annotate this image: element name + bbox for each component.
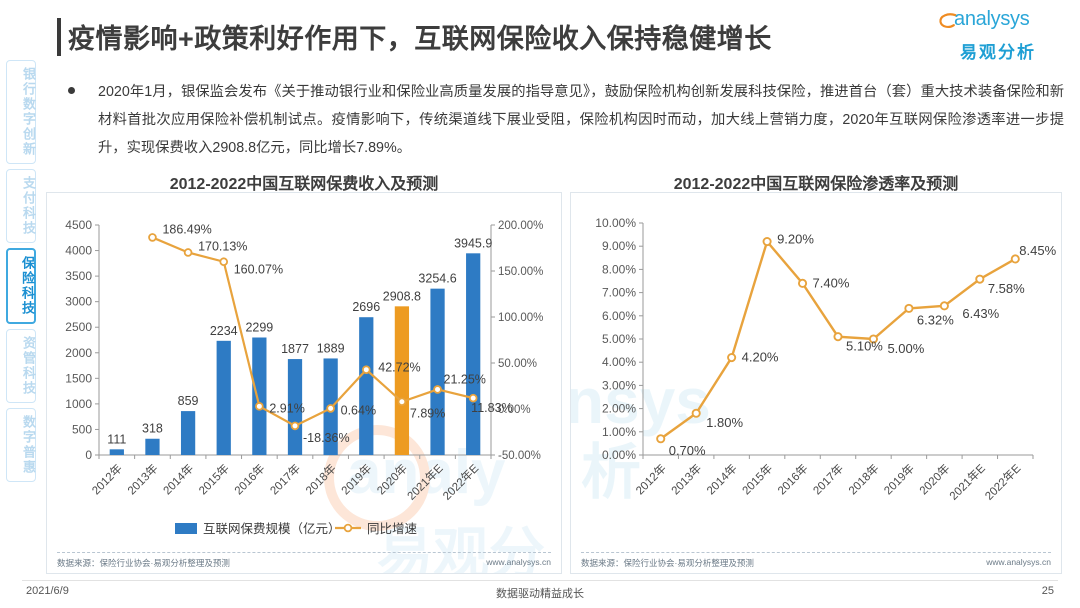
y-tick-label: 3000: [65, 295, 92, 309]
line-value-label: 6.43%: [962, 306, 999, 321]
line-value-label: 5.10%: [846, 339, 883, 354]
line-marker: [693, 410, 700, 417]
x-tick-label: 2019年: [881, 461, 917, 497]
y-tick-label: 1.00%: [602, 425, 636, 439]
line-value-label: 9.20%: [777, 232, 814, 247]
line-value-label: 11.83%: [471, 401, 512, 415]
bar-value-label: 859: [178, 394, 199, 408]
bar: [395, 306, 409, 455]
bar: [110, 449, 124, 455]
bullet-text: 2020年1月，银保监会发布《关于推动银行业和保险业高质量发展的指导意见》，鼓励…: [98, 78, 1064, 162]
y2-tick-label: 100.00%: [498, 312, 543, 324]
bar: [359, 317, 373, 455]
x-tick-label: 2016年: [775, 461, 811, 497]
x-tick-label: 2022年E: [982, 461, 1024, 503]
left-chart-panel: analy易观分05001000150020002500300035004000…: [46, 192, 562, 574]
right-chart-source: 数据来源：保险行业协会·易观分析整理及预测: [581, 557, 754, 569]
y-tick-label: 7.00%: [602, 286, 636, 300]
x-tick-label: 2013年: [668, 461, 704, 497]
line-marker: [363, 366, 370, 373]
line-marker: [292, 422, 299, 429]
bar-value-label: 2299: [245, 320, 273, 334]
bar: [430, 289, 444, 455]
x-tick-label: 2017年: [810, 461, 846, 497]
bar-value-label: 2234: [210, 324, 238, 338]
y-tick-label: 3.00%: [602, 378, 636, 392]
bullet-paragraph: 2020年1月，银保监会发布《关于推动银行业和保险业高质量发展的指导意见》，鼓励…: [68, 78, 1064, 162]
line-marker: [434, 386, 441, 393]
line-marker: [327, 405, 334, 412]
line-value-label: 0.64%: [341, 403, 376, 417]
y-tick-label: 0.00%: [602, 448, 636, 462]
y-tick-label: 6.00%: [602, 309, 636, 323]
line-marker: [657, 435, 664, 442]
legend-label-bar: 互联网保费规模（亿元）: [203, 521, 341, 536]
bar-value-label: 1889: [317, 341, 345, 355]
penetration-rate-chart: nsys析0.00%1.00%2.00%3.00%4.00%5.00%6.00%…: [571, 193, 1061, 573]
line-value-label: 160.07%: [234, 263, 283, 277]
line-value-label: 7.40%: [813, 275, 850, 290]
left-chart-site: www.analysys.cn: [486, 557, 551, 569]
sidebar-item-assetmgmt[interactable]: 资管科技: [6, 329, 36, 403]
y-tick-label: 2.00%: [602, 402, 636, 416]
line-marker: [976, 276, 983, 283]
y-tick-label: 4000: [65, 244, 92, 258]
line-value-label: -18.36%: [303, 431, 350, 445]
right-chart-source-row: 数据来源：保险行业协会·易观分析整理及预测 www.analysys.cn: [581, 552, 1051, 569]
premium-income-chart: analy易观分05001000150020002500300035004000…: [47, 193, 561, 573]
slide-header: 疫情影响+政策利好作用下，互联网保险收入保持稳健增长 analysys 易观分析: [0, 0, 1080, 70]
bar-value-label: 2908.8: [383, 289, 421, 303]
y-tick-label: 500: [72, 422, 92, 436]
line-value-label: 7.89%: [410, 407, 445, 421]
bar-value-label: 111: [107, 432, 126, 446]
bullet-dot-icon: [68, 87, 75, 94]
y-tick-label: 2500: [65, 320, 92, 334]
logo-wordmark: analysys: [954, 8, 1029, 31]
x-tick-label: 2013年: [124, 461, 160, 497]
bar-value-label: 1877: [281, 342, 309, 356]
analysys-logo: analysys 易观分析: [938, 8, 1058, 63]
line-marker: [763, 238, 770, 245]
watermark-text: nsys: [571, 365, 711, 437]
bar-value-label: 318: [142, 422, 163, 436]
y2-tick-label: 200.00%: [498, 220, 543, 232]
line-marker: [905, 305, 912, 312]
sidebar-item-banking[interactable]: 银行数字创新: [6, 60, 36, 164]
left-chart-source-row: 数据来源：保险行业协会·易观分析整理及预测 www.analysys.cn: [57, 552, 551, 569]
line-marker: [941, 302, 948, 309]
right-chart-title: 2012-2022中国互联网保险渗透率及预测: [570, 170, 1062, 194]
y2-tick-label: 150.00%: [498, 266, 543, 278]
line-value-label: 0.70%: [669, 443, 706, 458]
y2-tick-label: -50.00%: [498, 450, 541, 462]
y-tick-label: 1500: [65, 371, 92, 385]
line-marker: [399, 398, 406, 405]
y-tick-label: 3500: [65, 269, 92, 283]
line-value-label: 170.13%: [198, 239, 247, 253]
bar: [466, 253, 480, 455]
right-chart-panel: nsys析0.00%1.00%2.00%3.00%4.00%5.00%6.00%…: [570, 192, 1062, 574]
x-tick-label: 2014年: [704, 461, 740, 497]
legend-marker: [345, 525, 352, 532]
line-value-label: 4.20%: [742, 350, 779, 365]
y-tick-label: 4.00%: [602, 355, 636, 369]
line-value-label: 5.00%: [887, 341, 924, 356]
line-marker: [256, 403, 263, 410]
sidebar-item-payment[interactable]: 支付科技: [6, 169, 36, 243]
left-chart-title: 2012-2022中国互联网保费收入及预测: [46, 170, 562, 194]
sidebar-tabs: 银行数字创新 支付科技 保险科技 资管科技 数字普惠: [6, 60, 40, 487]
growth-rate-line: [152, 237, 473, 425]
x-tick-label: 2020年: [916, 461, 952, 497]
logo-chinese-name: 易观分析: [938, 38, 1058, 63]
bar-value-label: 3254.6: [418, 272, 456, 286]
left-chart-source: 数据来源：保险行业协会·易观分析整理及预测: [57, 557, 230, 569]
x-tick-label: 2016年: [231, 461, 267, 497]
line-value-label: 21.25%: [444, 372, 486, 386]
y-tick-label: 9.00%: [602, 239, 636, 253]
footer-slogan: 数据驱动精益成长: [0, 585, 1080, 601]
slide-page: 疫情影响+政策利好作用下，互联网保险收入保持稳健增长 analysys 易观分析…: [0, 0, 1080, 608]
bar: [181, 411, 195, 455]
line-value-label: 7.58%: [988, 281, 1025, 296]
bar: [145, 439, 159, 455]
y-tick-label: 5.00%: [602, 332, 636, 346]
footer-page-number: 25: [1042, 585, 1054, 597]
x-tick-label: 2015年: [739, 461, 775, 497]
y-tick-label: 1000: [65, 397, 92, 411]
line-marker: [1012, 255, 1019, 262]
footer-divider: [22, 580, 1058, 581]
sidebar-item-inclusive[interactable]: 数字普惠: [6, 408, 36, 482]
page-title: 疫情影响+政策利好作用下，互联网保险收入保持稳健增长: [68, 17, 772, 56]
bar-value-label: 2696: [352, 300, 380, 314]
x-tick-label: 2021年E: [946, 461, 988, 503]
x-tick-label: 2018年: [845, 461, 881, 497]
line-marker: [185, 249, 192, 256]
line-value-label: 1.80%: [706, 415, 743, 430]
line-value-label: 42.72%: [378, 361, 420, 375]
right-chart-site: www.analysys.cn: [986, 557, 1051, 569]
line-value-label: 8.45%: [1019, 243, 1056, 258]
line-marker: [834, 333, 841, 340]
bar-value-label: 3945.9: [454, 236, 492, 250]
bar: [252, 337, 266, 455]
line-marker: [799, 280, 806, 287]
y-tick-label: 2000: [65, 346, 92, 360]
title-accent-bar: [57, 18, 61, 56]
y-tick-label: 8.00%: [602, 262, 636, 276]
line-marker: [220, 258, 227, 265]
x-tick-label: 2015年: [196, 461, 232, 497]
y2-tick-label: 50.00%: [498, 358, 537, 370]
x-tick-label: 2014年: [160, 461, 196, 497]
x-tick-label: 2017年: [267, 461, 303, 497]
y-tick-label: 4500: [65, 218, 92, 232]
y-tick-label: 10.00%: [595, 216, 636, 230]
x-tick-label: 2012年: [89, 461, 125, 497]
line-marker: [728, 354, 735, 361]
slide-footer: 2021/6/9 数据驱动精益成长 25: [0, 580, 1080, 604]
line-marker: [149, 234, 156, 241]
line-value-label: 2.91%: [269, 401, 304, 415]
line-value-label: 186.49%: [162, 222, 211, 236]
bar: [217, 341, 231, 455]
legend-label-line: 同比增速: [367, 521, 418, 536]
y-tick-label: 0: [85, 448, 92, 462]
line-value-label: 6.32%: [917, 312, 954, 327]
legend-swatch-bar: [175, 523, 197, 534]
sidebar-item-insurance[interactable]: 保险科技: [6, 248, 36, 324]
